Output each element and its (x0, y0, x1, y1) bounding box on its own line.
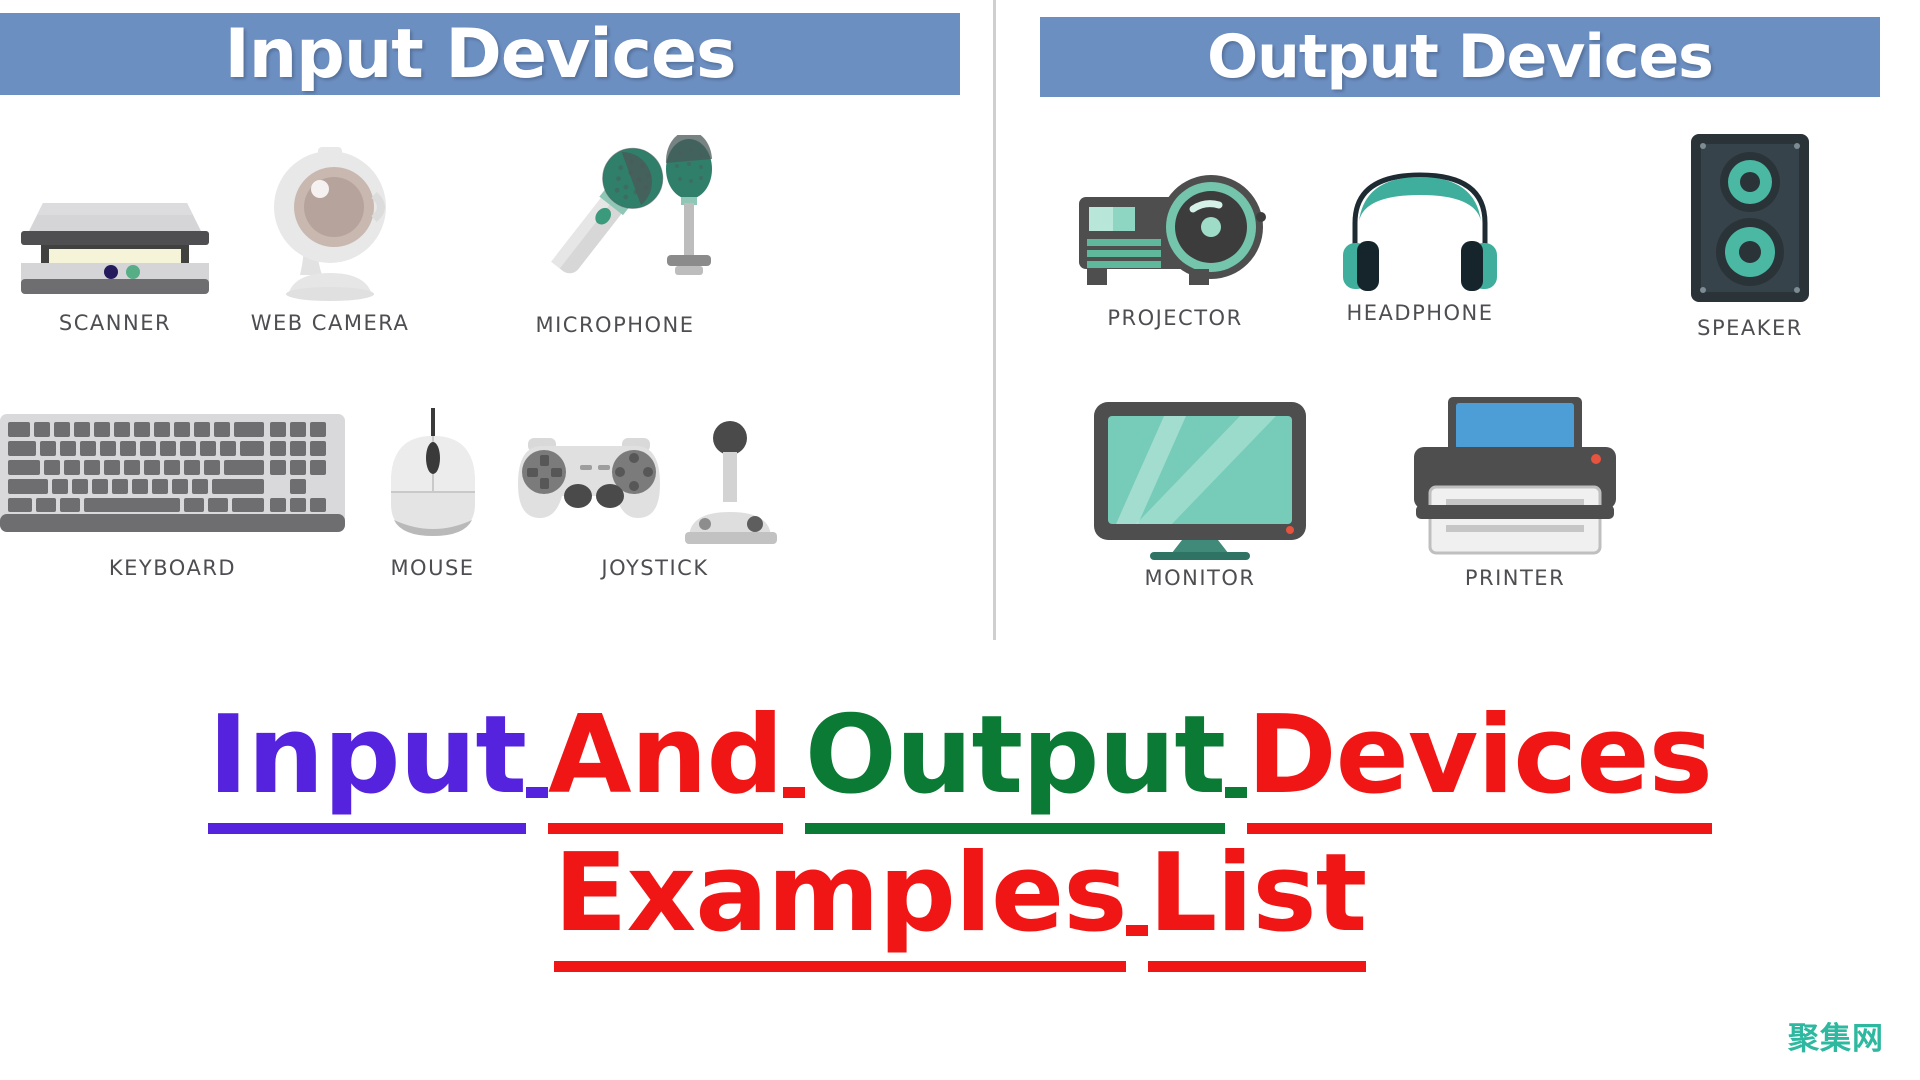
scanner-icon (15, 145, 215, 305)
headline-line-2: ExamplesList (0, 828, 1920, 966)
device-label: JOYSTICK (601, 556, 708, 580)
device-label: WEB CAMERA (251, 311, 410, 335)
device-cell-headphone: HEADPHONE (1330, 155, 1510, 325)
headline-word-and: And (548, 690, 783, 828)
headline-word-examples: Examples (554, 828, 1127, 966)
device-cell-speaker: SPEAKER (1655, 130, 1845, 340)
web-camera-icon (260, 145, 400, 305)
headline-line-1: InputAndOutputDevices (0, 690, 1920, 828)
speaker-icon (1685, 130, 1815, 310)
device-cell-joystick: JOYSTICK (510, 420, 800, 580)
device-label: MOUSE (390, 556, 474, 580)
column-divider (993, 0, 996, 640)
device-label: MONITOR (1145, 566, 1256, 590)
device-label: SPEAKER (1697, 316, 1803, 340)
device-cell-web-camera: WEB CAMERA (255, 145, 405, 335)
device-cell-projector: PROJECTOR (1060, 165, 1290, 330)
headline-word-list: List (1148, 828, 1366, 966)
device-cell-scanner: SCANNER (10, 145, 220, 335)
device-label: PRINTER (1465, 566, 1565, 590)
device-label: KEYBOARD (109, 556, 236, 580)
device-cell-printer: PRINTER (1395, 395, 1635, 590)
device-cell-keyboard: KEYBOARD (0, 410, 345, 580)
watermark: 聚集网 (1788, 1013, 1884, 1058)
device-label: MICROPHONE (535, 313, 694, 337)
joystick-icon (510, 420, 800, 550)
mouse-icon (378, 400, 488, 550)
device-label: PROJECTOR (1107, 306, 1242, 330)
headline: InputAndOutputDevices ExamplesList (0, 690, 1920, 966)
input-devices-banner: Input Devices (0, 13, 960, 95)
output-devices-banner: Output Devices (1040, 17, 1880, 97)
headline-word-output: Output (805, 690, 1225, 828)
poster-canvas: Input Devices Output Devices (0, 0, 1920, 1080)
device-cell-microphone: MICROPHONE (480, 135, 750, 337)
monitor-icon (1090, 400, 1310, 560)
headline-word-devices: Devices (1247, 690, 1712, 828)
microphone-icon (485, 135, 745, 307)
device-cell-mouse: MOUSE (370, 400, 495, 580)
device-label: SCANNER (59, 311, 171, 335)
projector-icon (1065, 165, 1285, 300)
keyboard-icon (0, 410, 345, 550)
printer-icon (1400, 395, 1630, 560)
device-cell-monitor: MONITOR (1085, 400, 1315, 590)
device-label: HEADPHONE (1346, 301, 1493, 325)
input-devices-banner-title: Input Devices (224, 15, 735, 94)
headline-word-input: Input (208, 690, 526, 828)
output-devices-banner-title: Output Devices (1207, 22, 1713, 92)
headphone-icon (1335, 155, 1505, 295)
